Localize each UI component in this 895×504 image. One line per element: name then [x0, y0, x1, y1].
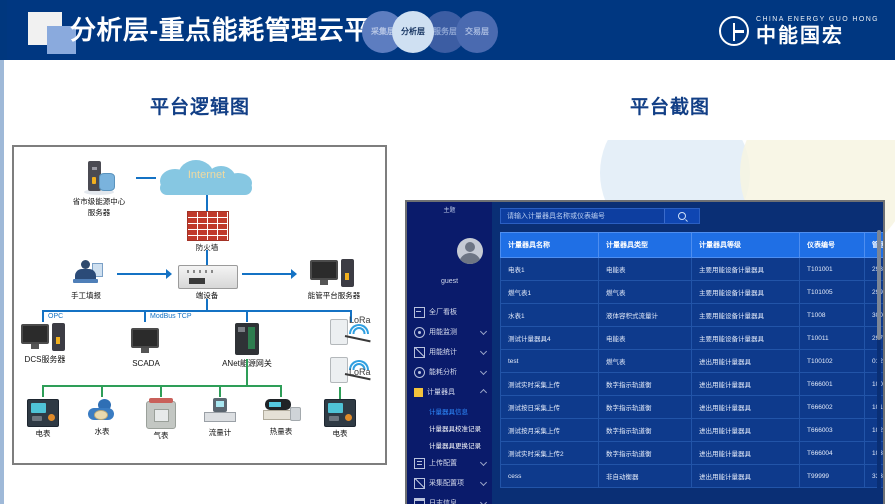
cell-device-grade: 进出用能计量器具	[692, 419, 800, 442]
sidebar-item-dashboard[interactable]: 全厂看板	[407, 302, 492, 322]
search-bar[interactable]: 请输入计量器具名称或仪表编号	[500, 208, 700, 224]
cell-meter-number: T666004	[800, 442, 865, 465]
table-row[interactable]: 测试按日采集上传 数字指示轨道衡 进出用能计量器具 T666002 101	[501, 396, 886, 419]
sidebar-item-energy-monitoring[interactable]: 用能监测	[407, 322, 492, 342]
col-meter-number[interactable]: 仪表编号	[800, 233, 865, 258]
sidebar-item-label-5: 上传配置	[429, 458, 457, 468]
device-label-5: 电表	[320, 429, 360, 438]
collect-config-icon	[414, 478, 425, 489]
diagram-node-scada: SCADA	[118, 327, 174, 369]
cell-device-type: 数字指示轨道衡	[599, 373, 692, 396]
diagram-node-device-3: 流量计	[200, 398, 240, 437]
chevron-down-icon-3	[480, 368, 487, 375]
device-label-1: 水表	[82, 427, 122, 436]
sidebar-theme-label[interactable]: 主题	[407, 205, 492, 214]
diagram-node-dcs-server: DCS服务器	[16, 323, 74, 365]
app-sidebar: 主题 guest 全厂看板 用能监测 用能统计	[407, 202, 492, 504]
search-button[interactable]	[664, 209, 699, 223]
diagram-node-device-4: 热量表	[260, 399, 302, 436]
cell-device-type: 电能表	[599, 258, 692, 281]
node-label-provincial-server-line1: 省市级能源中心	[54, 197, 144, 206]
cell-device-grade: 进出用能计量器具	[692, 373, 800, 396]
sidebar-item-energy-statistics[interactable]: 用能统计	[407, 342, 492, 362]
log-icon	[414, 498, 425, 504]
device-label-0: 电表	[23, 429, 63, 438]
diagram-node-edge-device: 端设备	[178, 265, 236, 300]
table-row[interactable]: test 燃气表 进出用能计量器具 T100102 012	[501, 350, 886, 373]
brand-mark-icon	[719, 16, 749, 46]
sidebar-item-log-info[interactable]: 日志信息	[407, 493, 492, 504]
diagram-node-device-5: 电表	[320, 399, 360, 438]
green-drop-4	[219, 385, 221, 397]
cell-meter-number: T101001	[800, 258, 865, 281]
cell-device-name: 测试实时采集上传2	[501, 442, 599, 465]
cell-device-name: test	[501, 350, 599, 373]
electric-meter-icon	[27, 399, 59, 427]
cell-manage-number: 298	[865, 258, 886, 281]
cell-meter-number: T666003	[800, 419, 865, 442]
chevron-up-icon-4	[480, 389, 487, 396]
green-bus-horizontal	[42, 385, 282, 387]
bus-drop-gateway	[246, 310, 248, 322]
table-header-row: 计量器具名称 计量器具类型 计量器具等级 仪表编号 管理编号	[501, 233, 886, 258]
layer-circle-analysis[interactable]: 分析层	[392, 11, 434, 53]
cell-device-type: 数字指示轨道衡	[599, 419, 692, 442]
sidebar-item-label-1: 用能监测	[429, 327, 457, 337]
cell-meter-number: T101005	[800, 281, 865, 304]
node-label-lora-top: LoRa	[349, 315, 371, 325]
bus-drop-scada	[144, 310, 146, 322]
left-edge-strip	[0, 60, 4, 504]
layer-circle-transaction[interactable]: 交易层	[456, 11, 498, 53]
table-row[interactable]: 电表1 电能表 主要用能设备计量器具 T101001 298	[501, 258, 886, 281]
node-label-dcs-server: DCS服务器	[16, 355, 74, 365]
cell-meter-number: T666001	[800, 373, 865, 396]
cell-manage-number: 102	[865, 419, 886, 442]
avatar[interactable]	[457, 238, 483, 264]
brand-chinese-name: 中能国宏	[756, 26, 879, 46]
cell-manage-number: 103	[865, 442, 886, 465]
device-label-2: 气表	[141, 431, 181, 440]
cell-meter-number: T100102	[800, 350, 865, 373]
green-drop-5	[280, 385, 282, 397]
col-manage-number[interactable]: 管理编号	[865, 233, 886, 258]
sidebar-item-label-6: 采集配置项	[429, 478, 464, 488]
col-device-type[interactable]: 计量器具类型	[599, 233, 692, 258]
left-section-title: 平台逻辑图	[60, 92, 340, 119]
statistics-icon	[414, 347, 425, 358]
diagram-node-manual-entry: 手工填报	[56, 259, 116, 300]
cell-device-name: 水表1	[501, 304, 599, 327]
device-label-4: 热量表	[260, 427, 302, 436]
chevron-down-icon-1	[480, 328, 487, 335]
cloud-icon: Internet	[154, 157, 259, 199]
node-label-internet: Internet	[154, 169, 259, 183]
cell-device-grade: 进出用能计量器具	[692, 442, 800, 465]
edge-device-icon	[178, 265, 238, 289]
gateway-icon	[232, 323, 262, 357]
sidebar-subitem-calibration-record[interactable]: 计量器具校准记录	[407, 419, 492, 436]
firewall-icon	[187, 211, 229, 241]
device-label-3: 流量计	[200, 428, 240, 437]
link-server-to-internet	[136, 177, 156, 179]
page-title: 分析层-重点能耗管理云平台	[70, 10, 397, 50]
search-icon	[678, 212, 686, 220]
sidebar-item-energy-analysis[interactable]: 能耗分析	[407, 362, 492, 382]
diagram-node-internet: Internet	[154, 157, 259, 199]
cell-device-grade: 主要用能设备计量器具	[692, 327, 800, 350]
table-row[interactable]: cess 非自动衡器 进出用能计量器具 T99999 333	[501, 465, 886, 488]
cell-device-name: 测试计量器具4	[501, 327, 599, 350]
cell-device-type: 电能表	[599, 327, 692, 350]
cell-device-type: 燃气表	[599, 281, 692, 304]
diagram-node-provincial-server: 省市级能源中心 服务器	[54, 161, 144, 218]
app-header: 分析层-重点能耗管理云平台 采集层 服务层 交易层 分析层 CHINA ENER…	[0, 0, 895, 60]
cell-device-type: 燃气表	[599, 350, 692, 373]
platform-server-icon	[310, 259, 358, 289]
brand-english-name: CHINA ENERGY GUO HONG	[756, 16, 879, 23]
dcs-server-icon	[21, 323, 69, 353]
cell-device-type: 数字指示轨道衡	[599, 396, 692, 419]
cell-device-name: 电表1	[501, 258, 599, 281]
node-label-lora-bottom: LoRa	[349, 367, 371, 377]
sidebar-item-label-4: 计量器具	[427, 387, 455, 397]
node-label-provincial-server-line2: 服务器	[54, 208, 144, 217]
sidebar-item-upload-config[interactable]: 上传配置	[407, 453, 492, 473]
water-meter-icon	[86, 399, 118, 425]
cell-manage-number: 333	[865, 465, 886, 488]
cell-meter-number: T10011	[800, 327, 865, 350]
col-device-name[interactable]: 计量器具名称	[501, 233, 599, 258]
sidebar-item-label-7: 日志信息	[429, 498, 457, 504]
green-bus-drop-gateway	[246, 359, 248, 387]
link-firewall-to-edge	[206, 250, 208, 266]
header-left-strip	[0, 0, 7, 60]
board-icon	[414, 307, 425, 318]
cell-meter-number: T666002	[800, 396, 865, 419]
bus-drop-dcs	[42, 310, 44, 322]
arrow-manual-to-edge	[117, 273, 169, 275]
col-device-grade[interactable]: 计量器具等级	[692, 233, 800, 258]
chevron-down-icon-6	[480, 479, 487, 486]
upload-config-icon	[414, 458, 425, 469]
arrow-edge-to-platform	[242, 273, 294, 275]
table-body: 电表1 电能表 主要用能设备计量器具 T101001 298 燃气表1 燃气表 …	[501, 258, 886, 488]
cell-device-type: 液体容积式流量计	[599, 304, 692, 327]
person-icon	[69, 259, 103, 289]
cell-device-name: 测试按日采集上传	[501, 396, 599, 419]
sidebar-item-metering-devices[interactable]: 计量器具	[407, 382, 492, 402]
heat-meter-icon	[263, 399, 299, 425]
cell-manage-number: 101	[865, 396, 886, 419]
chevron-down-icon-7	[480, 499, 487, 504]
diagram-node-firewall: 防火墙	[187, 211, 227, 252]
node-label-platform-server: 能管平台服务器	[299, 291, 369, 300]
platform-screenshot: 主题 guest 全厂看板 用能监测 用能统计	[405, 200, 885, 504]
green-drop-1	[42, 385, 44, 397]
page-body: 平台逻辑图 平台截图 省市级能源中心 服务器 Internet	[0, 60, 895, 504]
chevron-down-icon-5	[480, 459, 487, 466]
protocol-label-modbus: ModBus TCP	[150, 313, 192, 320]
table-row[interactable]: 燃气表1 燃气表 主要用能设备计量器具 T101005 299	[501, 281, 886, 304]
diagram-node-platform-server: 能管平台服务器	[299, 259, 369, 300]
green-drop-2	[101, 385, 103, 397]
cell-device-name: 燃气表1	[501, 281, 599, 304]
table-row[interactable]: 水表1 液体容积式流量计 主要用能设备计量器具 T1008 300	[501, 304, 886, 327]
protocol-label-opc: OPC	[48, 313, 63, 320]
sidebar-item-label-0: 全厂看板	[429, 307, 457, 317]
platform-logic-diagram: 省市级能源中心 服务器 Internet 防火墙	[12, 145, 387, 465]
cell-manage-number: 300	[865, 304, 886, 327]
table-row[interactable]: 测试计量器具4 电能表 主要用能设备计量器具 T10011 297	[501, 327, 886, 350]
bus-horizontal	[42, 310, 352, 312]
cell-meter-number: T99999	[800, 465, 865, 488]
brand-logo: CHINA ENERGY GUO HONG 中能国宏	[719, 14, 879, 48]
server-icon	[84, 161, 114, 195]
table-row[interactable]: 测试实时采集上传 数字指示轨道衡 进出用能计量器具 T666001 100	[501, 373, 886, 396]
layer-circles: 采集层 服务层 交易层 分析层	[362, 11, 502, 51]
table-row[interactable]: 测试实时采集上传2 数字指示轨道衡 进出用能计量器具 T666004 103	[501, 442, 886, 465]
electric-meter-icon-2	[324, 399, 356, 427]
cell-device-type: 数字指示轨道衡	[599, 442, 692, 465]
node-label-manual-entry: 手工填报	[56, 291, 116, 300]
diagram-node-device-1: 水表	[82, 399, 122, 436]
flow-meter-icon	[204, 398, 236, 426]
cell-manage-number: 299	[865, 281, 886, 304]
cell-device-grade: 主要用能设备计量器具	[692, 258, 800, 281]
sidebar-item-label-3: 能耗分析	[429, 367, 457, 377]
cell-device-grade: 进出用能计量器具	[692, 350, 800, 373]
cell-device-grade: 主要用能设备计量器具	[692, 304, 800, 327]
cell-device-name: 测试实时采集上传	[501, 373, 599, 396]
sidebar-item-collect-config[interactable]: 采集配置项	[407, 473, 492, 493]
analysis-icon	[414, 367, 425, 378]
cell-device-name: cess	[501, 465, 599, 488]
cell-meter-number: T1008	[800, 304, 865, 327]
chevron-down-icon-2	[480, 348, 487, 355]
cell-device-grade: 主要用能设备计量器具	[692, 281, 800, 304]
cell-device-grade: 进出用能计量器具	[692, 465, 800, 488]
node-label-scada: SCADA	[118, 359, 174, 369]
sidebar-item-label-2: 用能统计	[429, 347, 457, 357]
sidebar-subitem-metering-info[interactable]: 计量器具信息	[407, 402, 492, 419]
monitor-icon	[414, 327, 425, 338]
table-row[interactable]: 测试按月采集上传 数字指示轨道衡 进出用能计量器具 T666003 102	[501, 419, 886, 442]
cell-manage-number: 297	[865, 327, 886, 350]
sidebar-subitem-replacement-record[interactable]: 计量器具更换记录	[407, 436, 492, 453]
cell-device-type: 非自动衡器	[599, 465, 692, 488]
gas-meter-icon	[146, 401, 176, 429]
diagram-node-device-2: 气表	[141, 401, 181, 440]
vertical-scrollbar-thumb[interactable]	[877, 230, 881, 340]
diagram-node-device-0: 电表	[23, 399, 63, 438]
arrowhead-edge-to-platform	[291, 269, 297, 279]
cell-manage-number: 100	[865, 373, 886, 396]
green-drop-3	[160, 385, 162, 397]
meter-icon	[414, 388, 423, 397]
right-section-title: 平台截图	[545, 92, 795, 119]
search-input[interactable]: 请输入计量器具名称或仪表编号	[501, 211, 664, 221]
cell-manage-number: 012	[865, 350, 886, 373]
metering-devices-table: 计量器具名称 计量器具类型 计量器具等级 仪表编号 管理编号 电表1 电能表 主…	[500, 232, 885, 488]
cell-device-name: 测试按月采集上传	[501, 419, 599, 442]
sidebar-menu: 全厂看板 用能监测 用能统计 能耗分析	[407, 302, 492, 504]
app-main-content: 请输入计量器具名称或仪表编号 计量器具名称 计量器具类型 计量器具等级 仪表编号…	[492, 202, 883, 504]
scada-icon	[131, 327, 161, 357]
cell-device-grade: 进出用能计量器具	[692, 396, 800, 419]
sidebar-username: guest	[407, 278, 492, 285]
arrowhead-manual-to-edge	[166, 269, 172, 279]
